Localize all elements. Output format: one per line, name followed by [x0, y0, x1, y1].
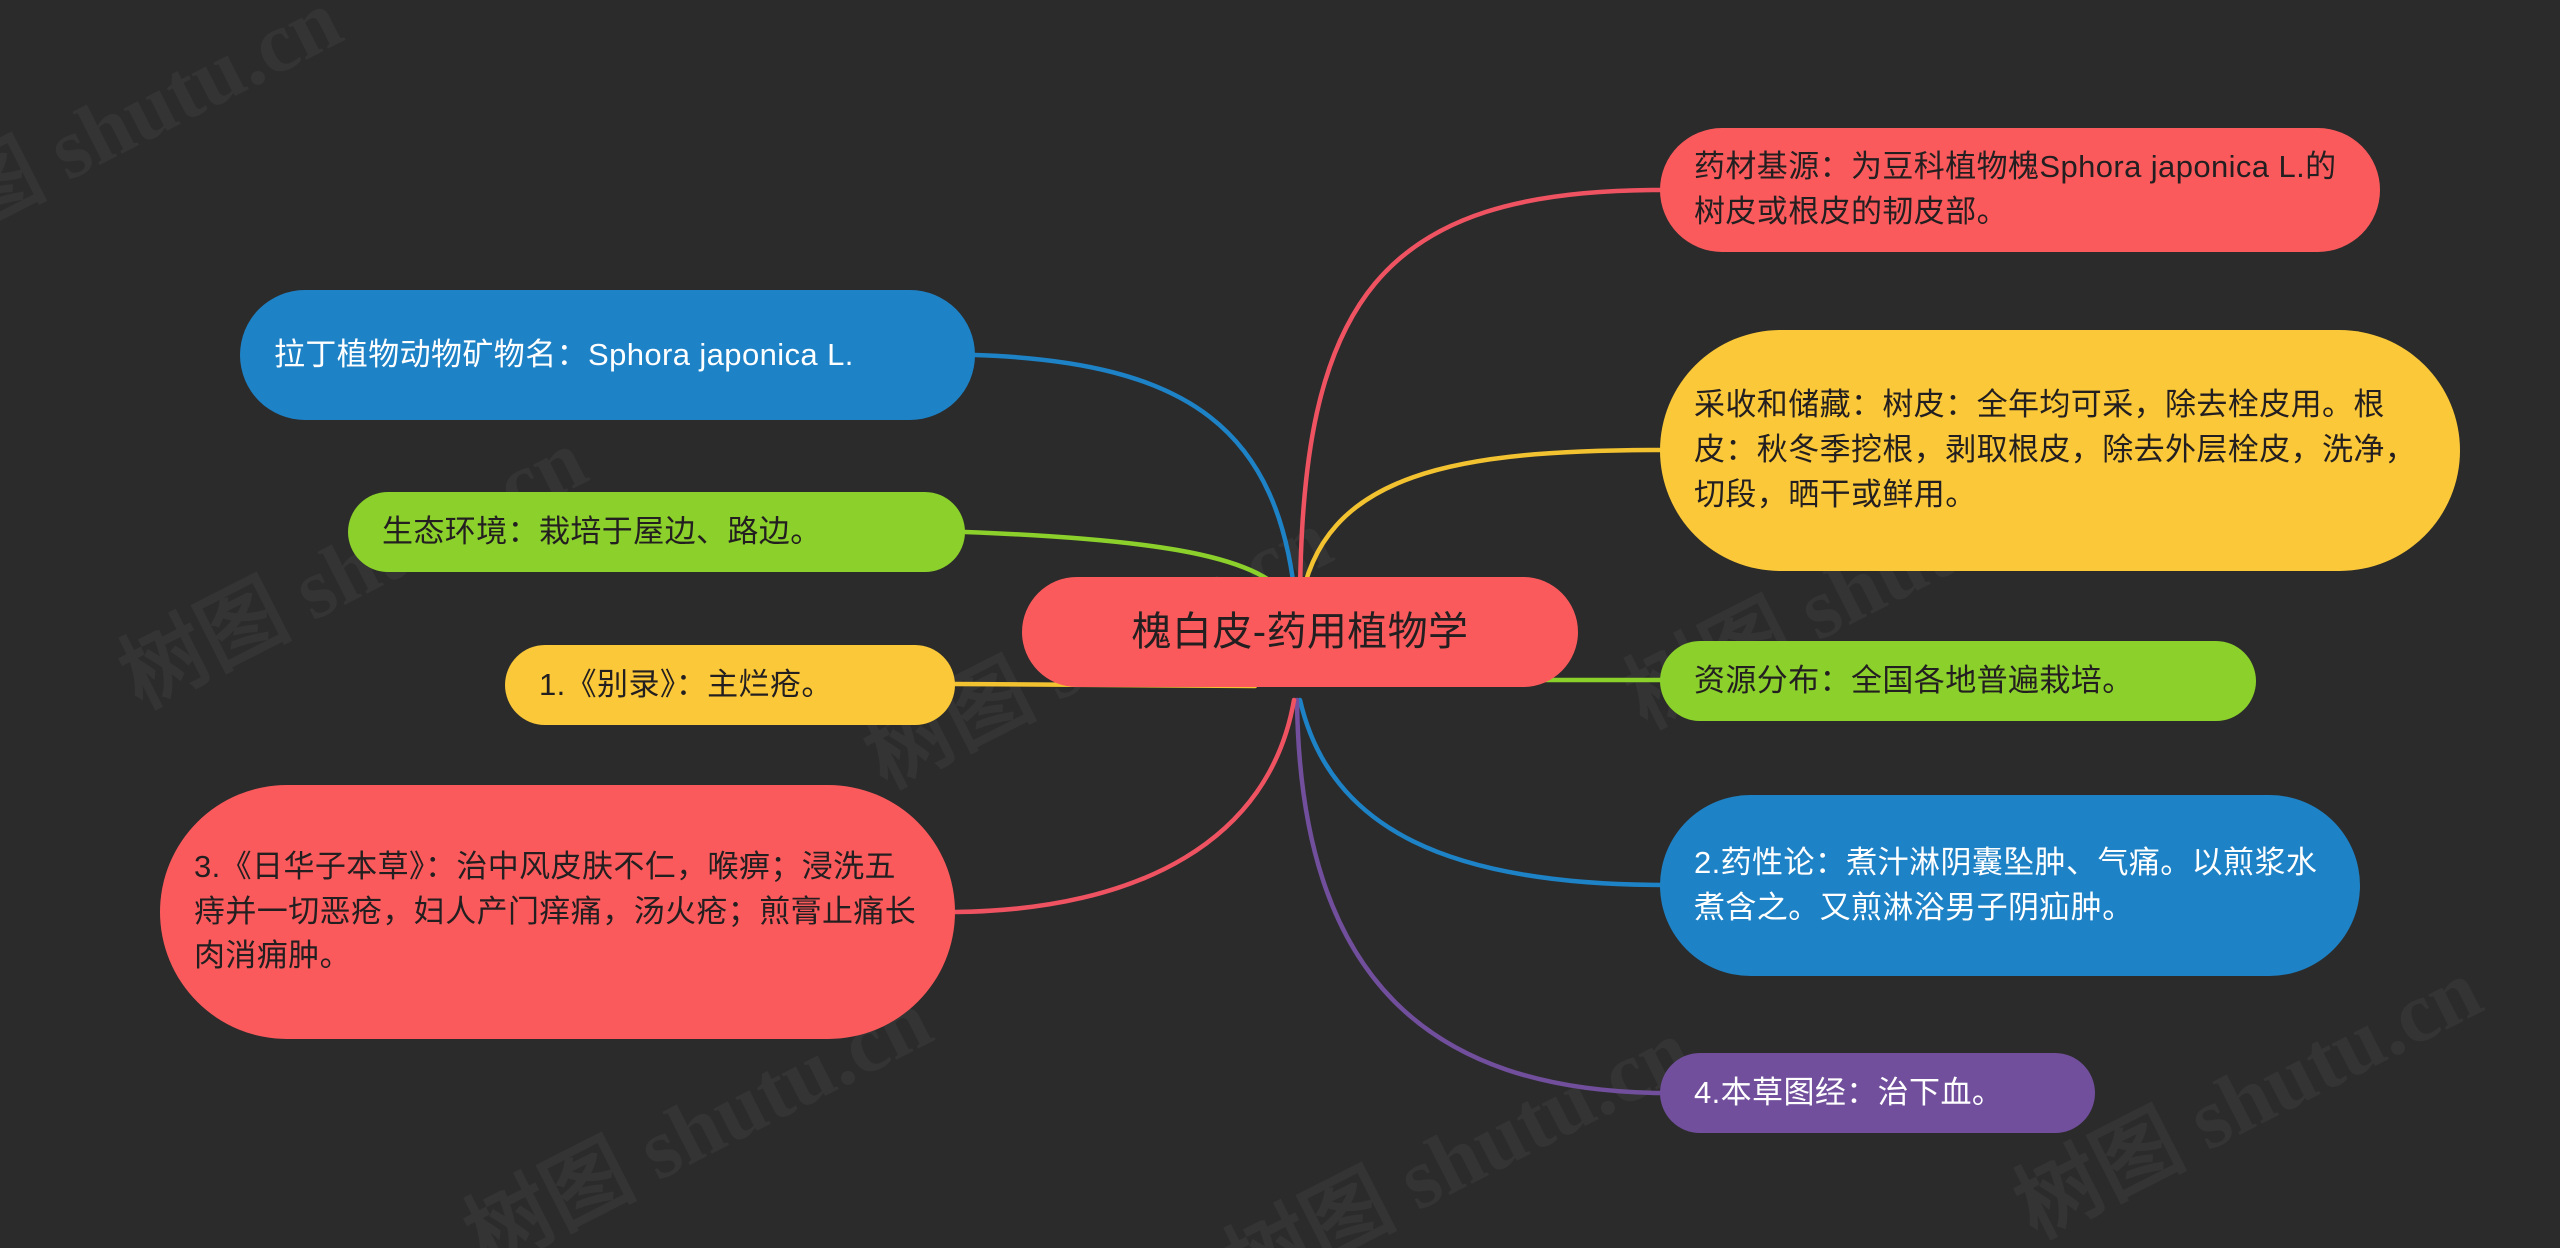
watermark-text: 树图 shutu.cn: [0, 0, 358, 291]
mindmap-node-source[interactable]: 药材基源：为豆科植物槐Sphora japonica L.的树皮或根皮的韧皮部。: [1660, 128, 2380, 252]
mindmap-canvas: 树图 shutu.cn 树图 shutu.cn 树图 shutu.cn 树图 s…: [0, 0, 2560, 1248]
mindmap-node-label: 拉丁植物动物矿物名：Sphora japonica L.: [274, 333, 854, 378]
mindmap-node-label: 生态环境：栽培于屋边、路边。: [382, 510, 822, 555]
mindmap-node-bielu[interactable]: 1.《别录》：主烂疮。: [505, 645, 955, 725]
link-node-latin-name: [975, 355, 1296, 606]
mindmap-node-ecology[interactable]: 生态环境：栽培于屋边、路边。: [348, 492, 965, 572]
mindmap-node-label: 药材基源：为豆科植物槐Sphora japonica L.的树皮或根皮的韧皮部。: [1694, 145, 2346, 235]
mindmap-node-label: 4.本草图经：治下血。: [1694, 1071, 2003, 1116]
mindmap-node-distribution[interactable]: 资源分布：全国各地普遍栽培。: [1660, 641, 2256, 721]
mindmap-node-label: 2.药性论：煮汁淋阴囊坠肿、气痛。以煎浆水煮含之。又煎淋浴男子阴疝肿。: [1694, 841, 2326, 931]
mindmap-node-label: 采收和储藏：树皮：全年均可采，除去栓皮用。根皮：秋冬季挖根，剥取根皮，除去外层栓…: [1694, 383, 2426, 518]
mindmap-node-label: 3.《日华子本草》：治中风皮肤不仁，喉痹；浸洗五痔并一切恶疮，妇人产门痒痛，汤火…: [194, 845, 921, 980]
watermark-text: 树图 shutu.cn: [1200, 980, 1708, 1248]
mindmap-node-latin-name[interactable]: 拉丁植物动物矿物名：Sphora japonica L.: [240, 290, 975, 420]
mindmap-root-label: 槐白皮-药用植物学: [1132, 603, 1469, 661]
link-node-yaoxinglun: [1300, 700, 1665, 885]
link-node-source: [1300, 190, 1660, 608]
mindmap-node-label: 资源分布：全国各地普遍栽培。: [1694, 659, 2134, 704]
link-node-bencaotujing: [1297, 700, 1660, 1093]
mindmap-node-label: 1.《别录》：主烂疮。: [539, 663, 833, 708]
mindmap-node-harvest[interactable]: 采收和储藏：树皮：全年均可采，除去栓皮用。根皮：秋冬季挖根，剥取根皮，除去外层栓…: [1660, 330, 2460, 571]
mindmap-root-node[interactable]: 槐白皮-药用植物学: [1022, 577, 1578, 687]
mindmap-node-yaoxinglun[interactable]: 2.药性论：煮汁淋阴囊坠肿、气痛。以煎浆水煮含之。又煎淋浴男子阴疝肿。: [1660, 795, 2360, 976]
mindmap-node-bencaotujing[interactable]: 4.本草图经：治下血。: [1660, 1053, 2095, 1133]
link-node-rihuazi: [955, 700, 1294, 912]
mindmap-node-rihuazi[interactable]: 3.《日华子本草》：治中风皮肤不仁，喉痹；浸洗五痔并一切恶疮，妇人产门痒痛，汤火…: [160, 785, 955, 1039]
